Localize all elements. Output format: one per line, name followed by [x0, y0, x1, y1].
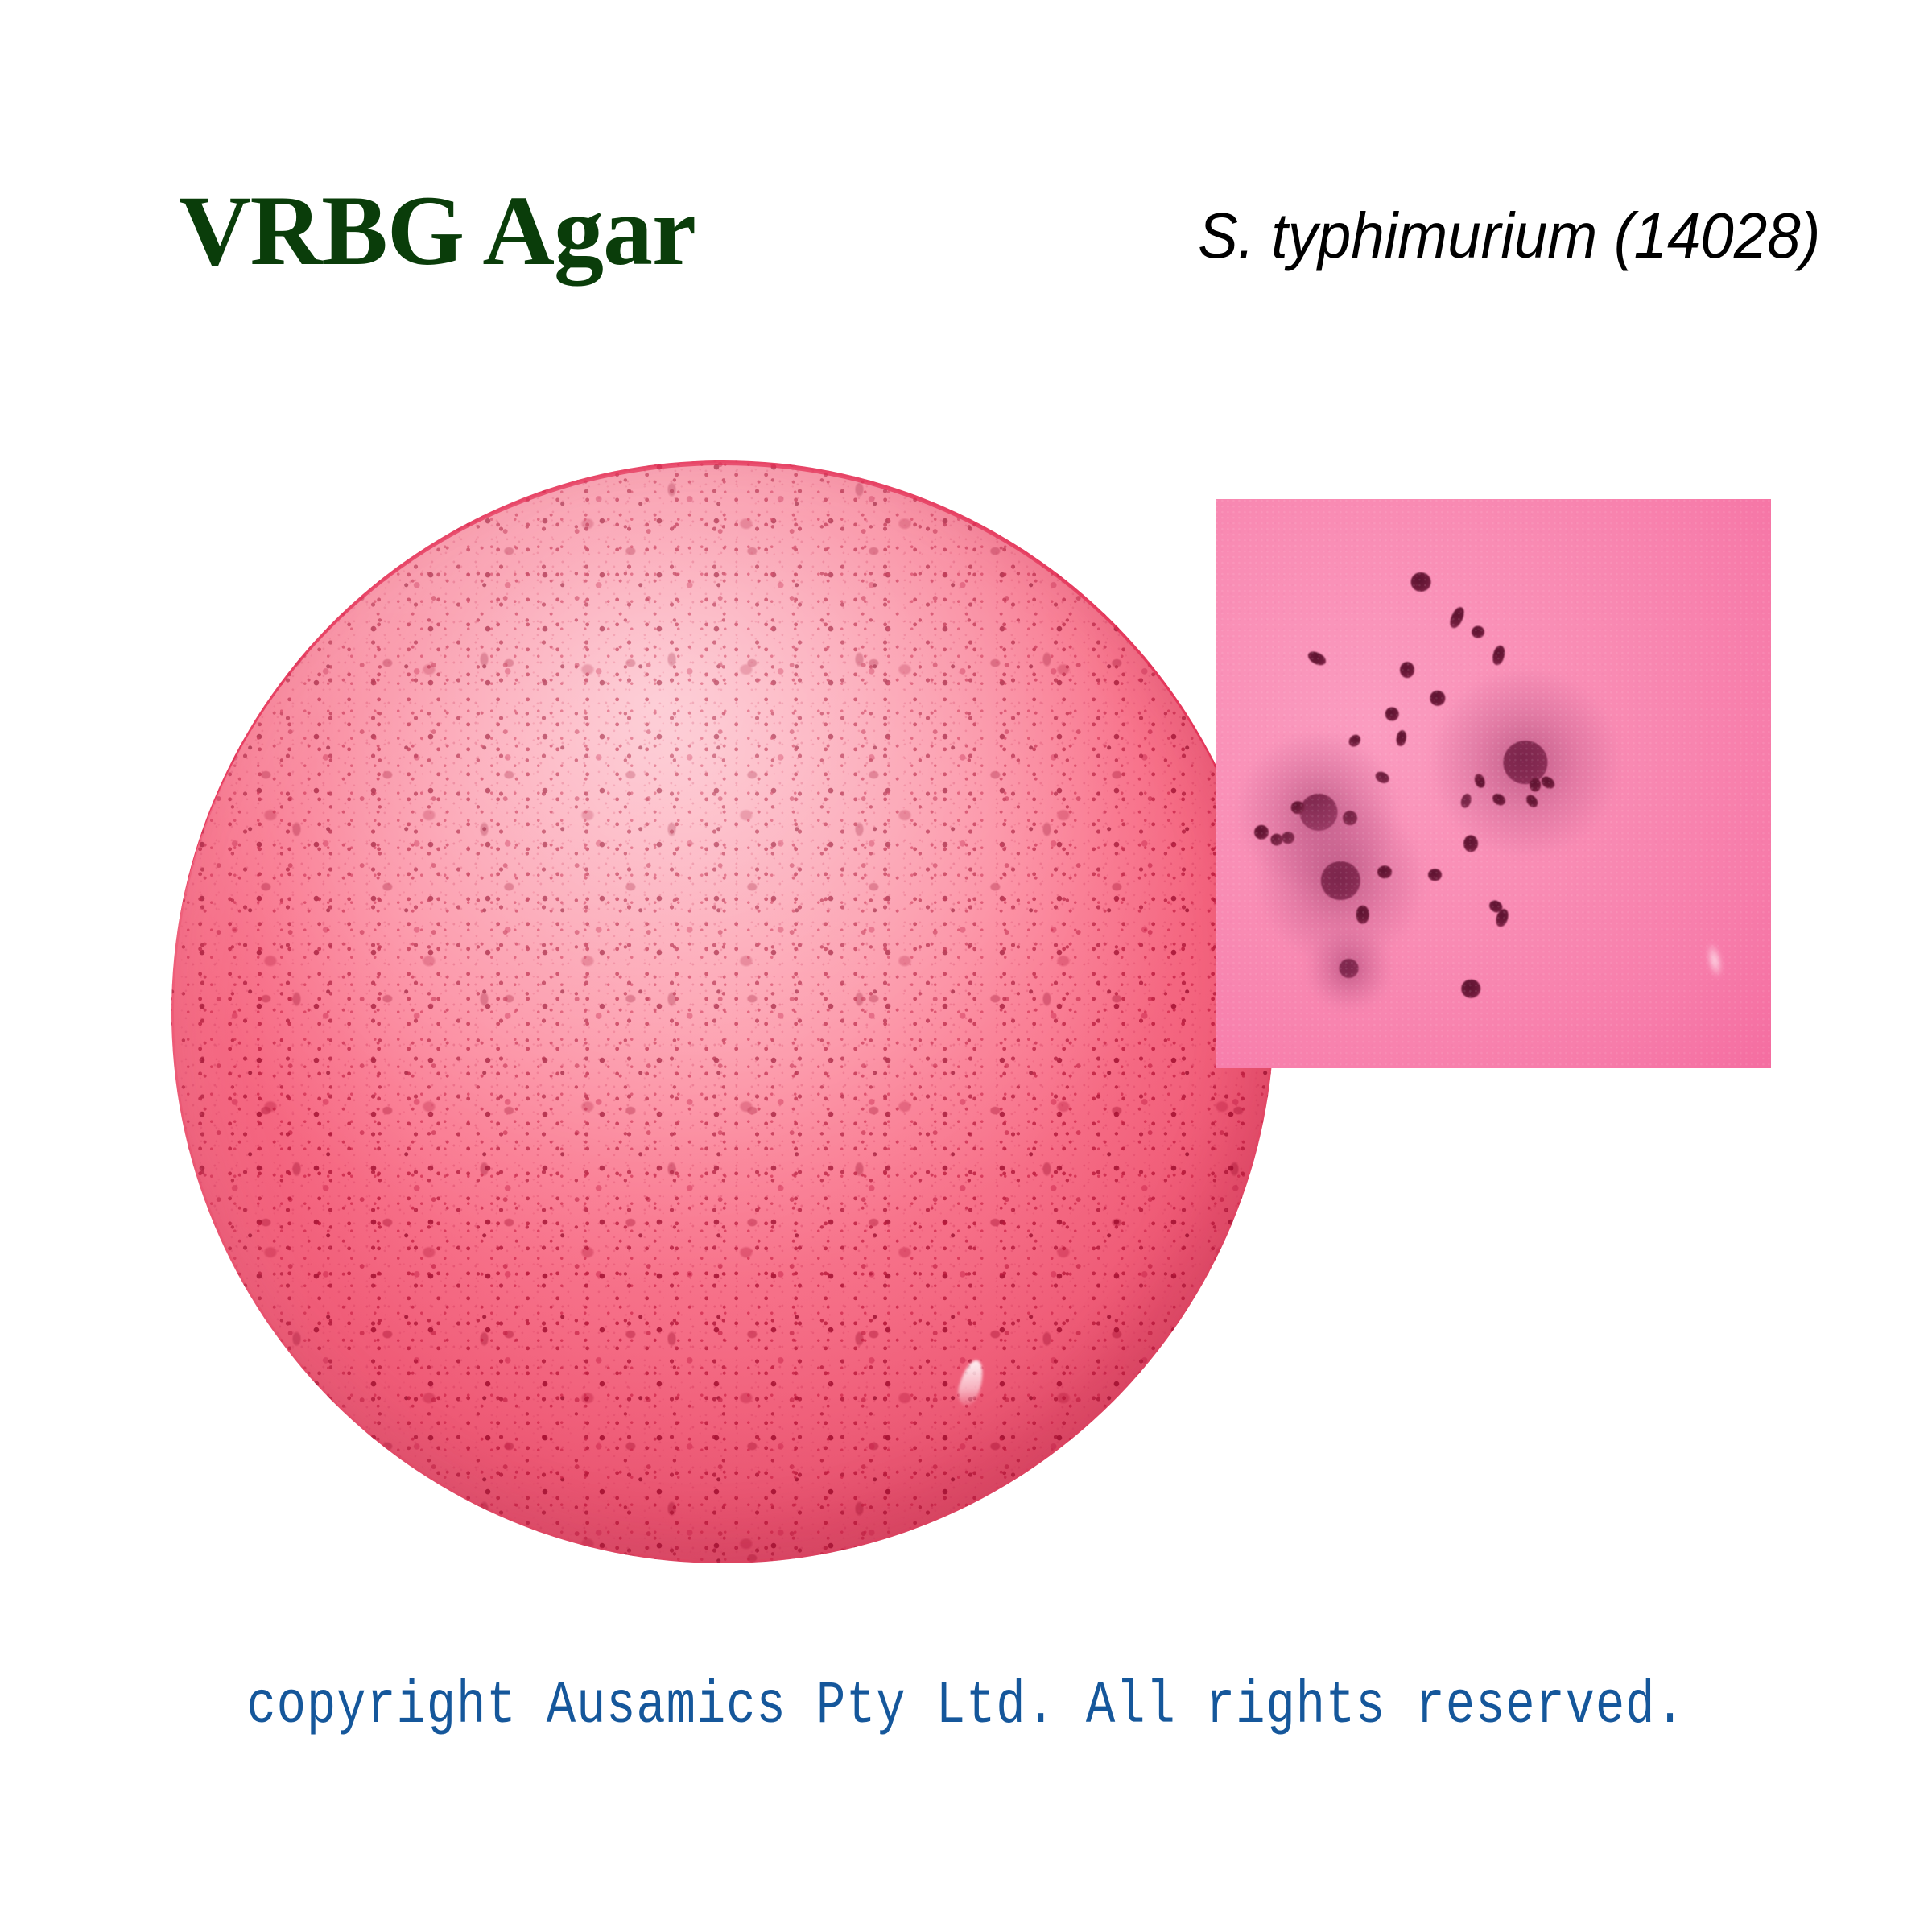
figure-canvas: VRBG Agar S. typhimurium (14028) copyrig…: [0, 0, 1932, 1932]
colony-closeup-inset: [1216, 499, 1771, 1068]
colony-spot: [1356, 906, 1370, 924]
colony-texture-small: [171, 460, 1274, 1563]
colony-spot: [1377, 865, 1392, 878]
dish-specular-highlight: [954, 1357, 987, 1408]
colony-spot: [1321, 861, 1360, 900]
colony-spot: [1447, 605, 1467, 630]
colony-spot: [1385, 708, 1399, 721]
colony-spot: [1400, 662, 1414, 678]
colony-spot: [1529, 778, 1541, 791]
dish-rim-shadow: [171, 460, 1274, 1563]
colony-spot: [1339, 959, 1359, 978]
colony-spot: [1503, 741, 1547, 784]
inset-specular-highlight: [1703, 942, 1725, 980]
colony-spot: [1462, 980, 1480, 998]
colony-spot: [1306, 649, 1328, 668]
colony-texture-fine: [171, 460, 1274, 1563]
organism-label: S. typhimurium (14028): [1198, 192, 1819, 280]
page-title-medium-name: VRBG Agar: [179, 179, 903, 283]
colony-spot: [1491, 645, 1507, 667]
colony-spot: [1428, 869, 1443, 881]
colony-spot: [1463, 835, 1478, 852]
agar-surface: [171, 460, 1274, 1563]
colony-spot: [1430, 691, 1445, 705]
agar-illumination-gradient: [171, 460, 1274, 1563]
copyright-notice: copyright Ausamics Pty Ltd. All rights r…: [174, 1673, 1758, 1740]
colony-spot: [1472, 625, 1484, 638]
colony-texture-large: [171, 460, 1274, 1563]
colony-texture-medium: [171, 460, 1274, 1563]
colony-spot: [1411, 572, 1431, 591]
colony-spot: [1395, 729, 1408, 747]
petri-dish-photo: [171, 460, 1274, 1563]
